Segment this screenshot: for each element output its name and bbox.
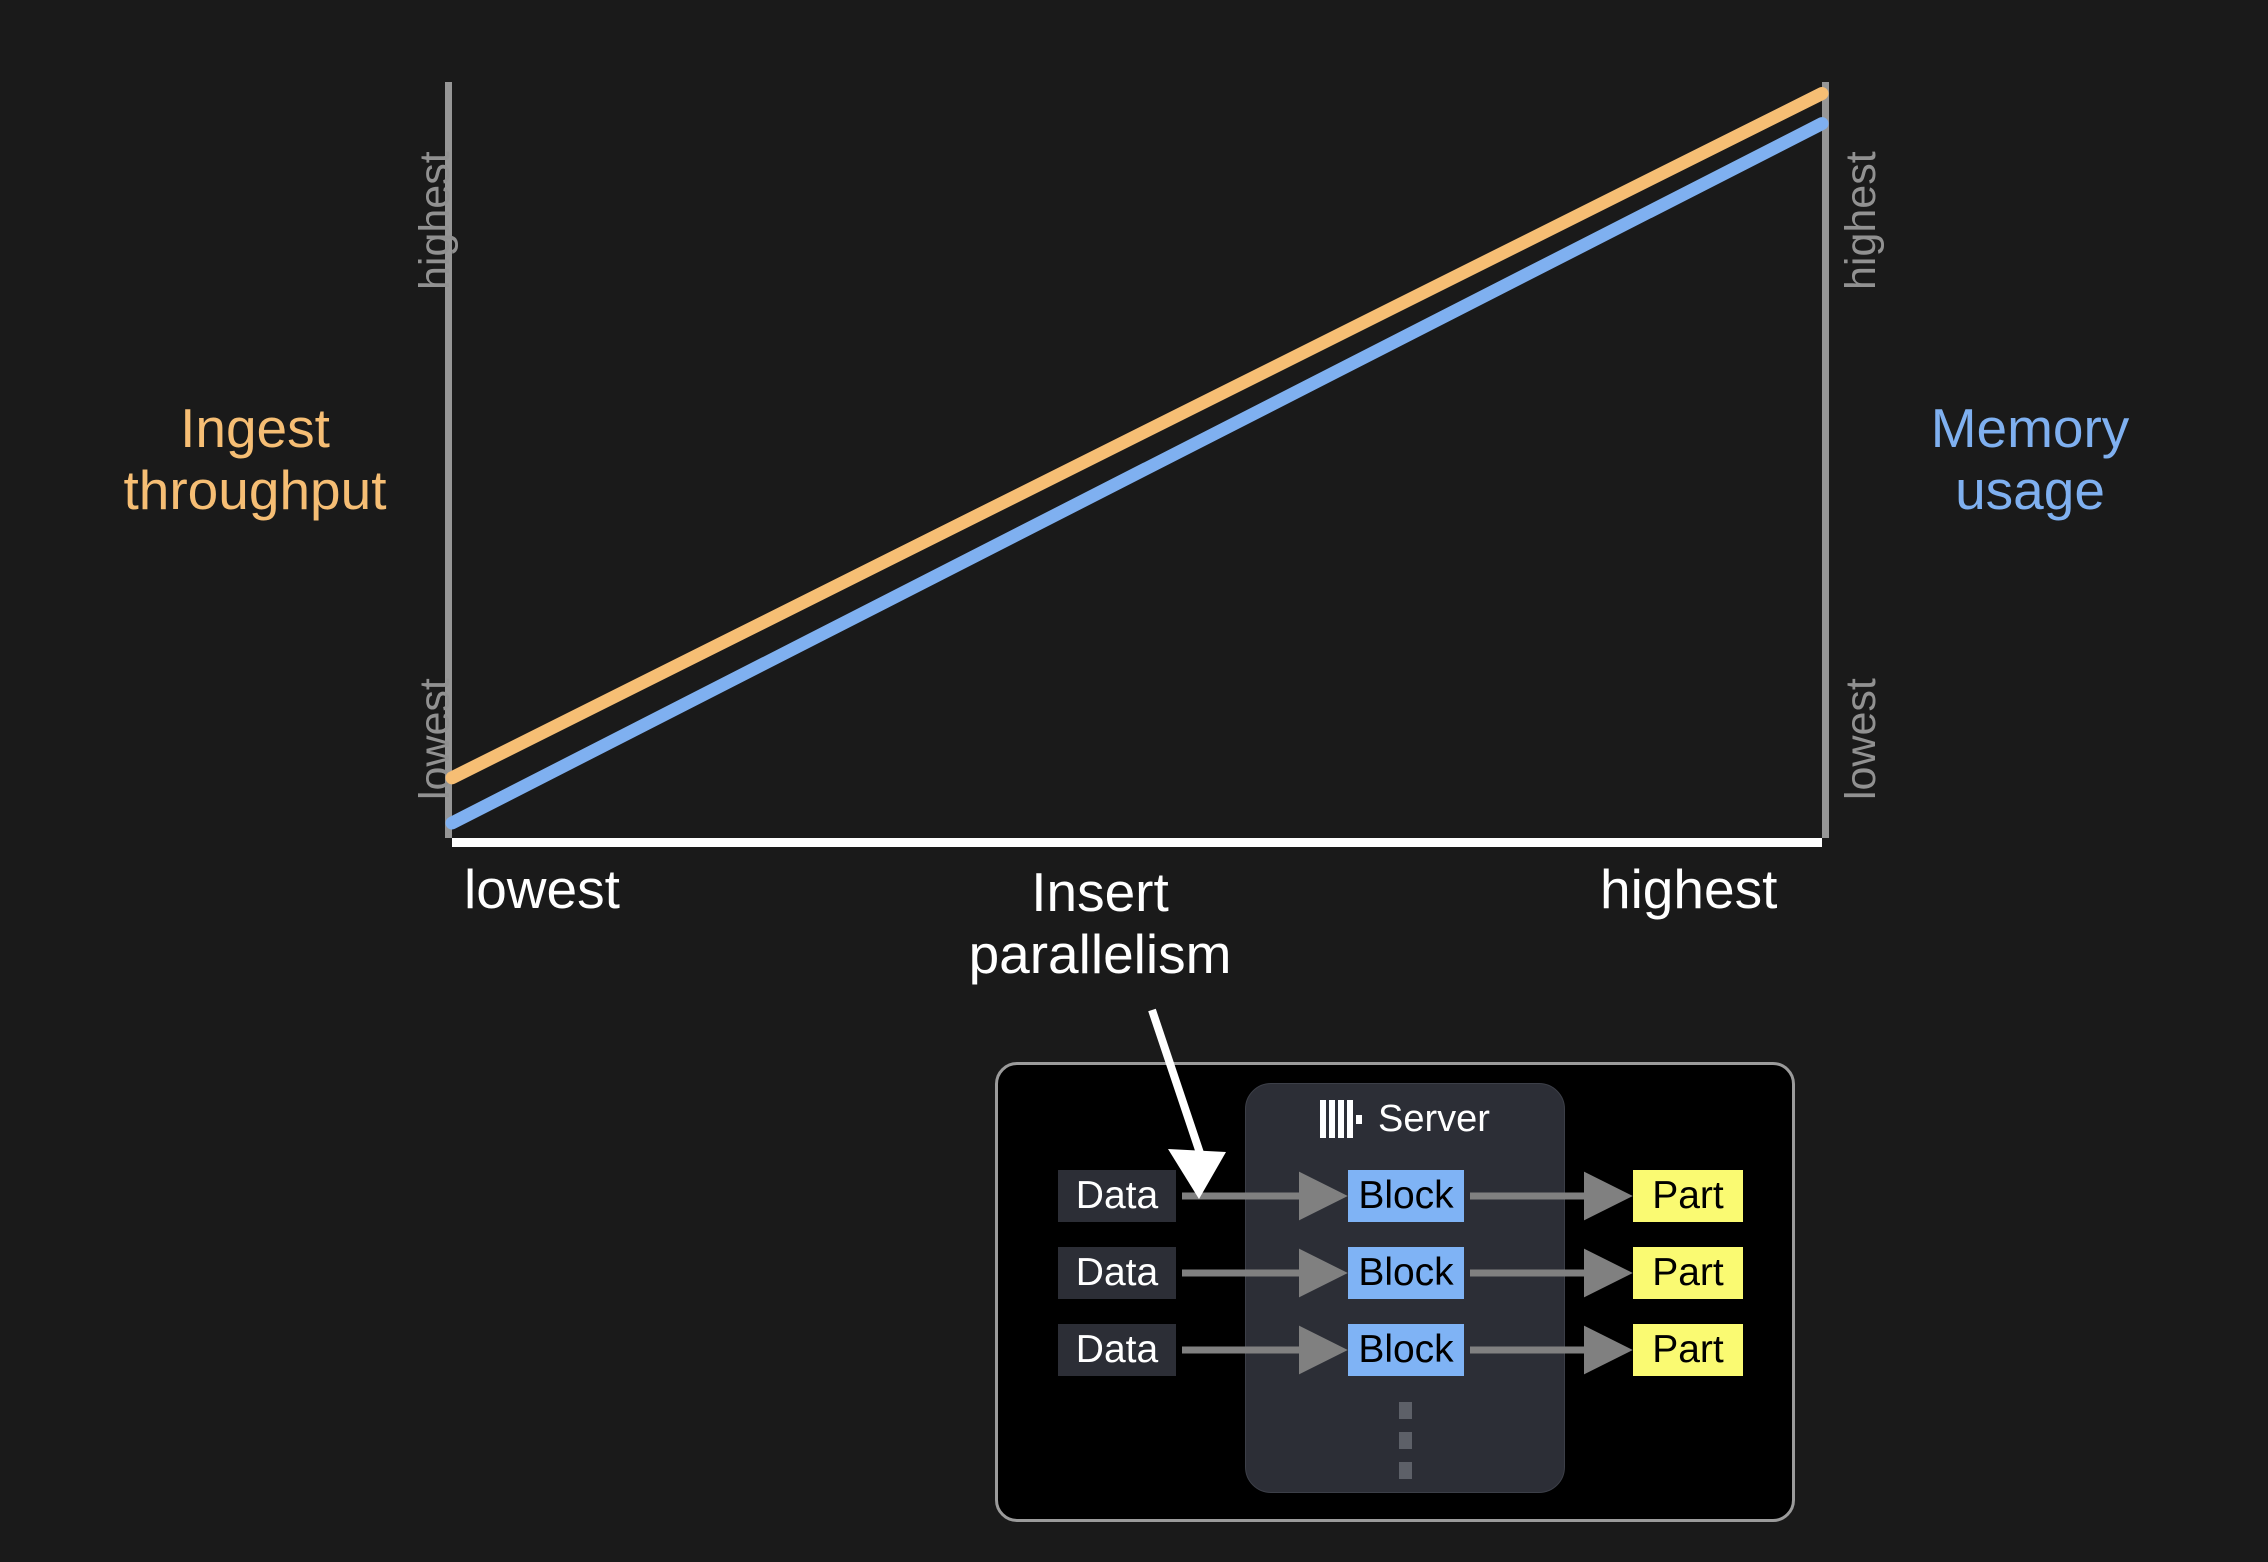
series-line-ingest-throughput <box>452 94 1822 778</box>
server-header: Server <box>1245 1100 1565 1138</box>
data-box: Data <box>1058 1324 1176 1376</box>
part-box: Part <box>1633 1247 1743 1299</box>
vertical-ellipsis-icon <box>1399 1402 1412 1419</box>
vertical-ellipsis-icon <box>1399 1462 1412 1479</box>
y-axis-left-tick-highest: highest <box>414 151 457 290</box>
x-axis-tick-lowest: lowest <box>464 862 620 917</box>
x-axis-tick-highest: highest <box>1600 862 1777 917</box>
block-box: Block <box>1348 1247 1464 1299</box>
y-axis-right-line <box>1822 82 1829 838</box>
y-axis-right-tick-highest: highest <box>1840 151 1883 290</box>
y-axis-right-tick-lowest: lowest <box>1840 678 1883 800</box>
series-line-memory-usage <box>452 124 1822 823</box>
part-box: Part <box>1633 1170 1743 1222</box>
block-box: Block <box>1348 1324 1464 1376</box>
clickhouse-logo-icon <box>1320 1100 1364 1138</box>
x-axis-title: Insert parallelism <box>930 862 1270 985</box>
server-label: Server <box>1378 1100 1490 1138</box>
y-axis-right-title: Memory usage <box>1845 398 2215 521</box>
x-axis-line <box>452 838 1822 847</box>
block-box: Block <box>1348 1170 1464 1222</box>
y-axis-left-title: Ingest throughput <box>70 398 440 521</box>
y-axis-left-tick-lowest: lowest <box>414 678 457 800</box>
data-box: Data <box>1058 1170 1176 1222</box>
vertical-ellipsis-icon <box>1399 1432 1412 1449</box>
data-box: Data <box>1058 1247 1176 1299</box>
part-box: Part <box>1633 1324 1743 1376</box>
chart-area: highest lowest highest lowest Ingest thr… <box>0 0 2268 1010</box>
